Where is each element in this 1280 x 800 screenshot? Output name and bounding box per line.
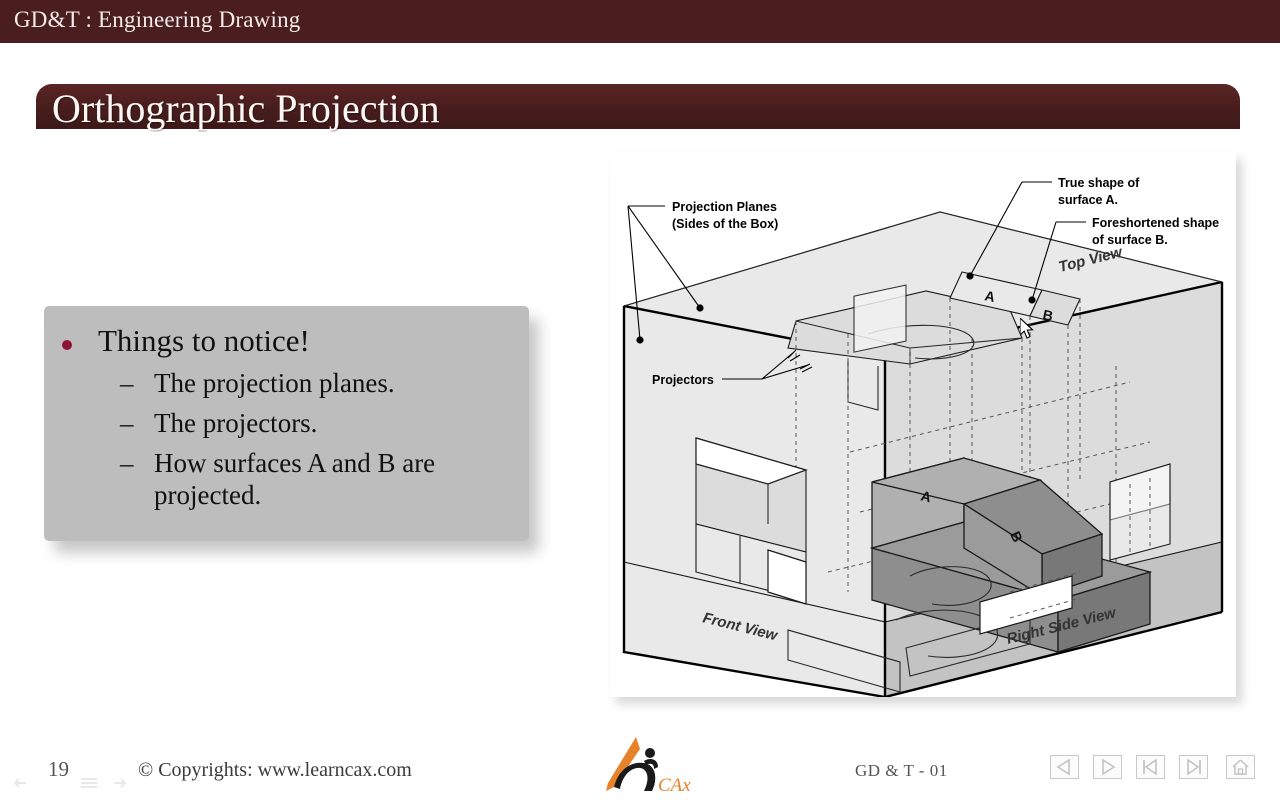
sub-bullet-list: – The projection planes. – The projector… <box>120 368 520 519</box>
figure-projection-planes-label-line1: Projection Planes <box>672 200 777 214</box>
orthographic-projection-figure: .pl { fill:#e9e9e9; stroke:#1a1a1a; stro… <box>610 152 1236 697</box>
previous-button[interactable] <box>1050 755 1079 779</box>
bullet-item-sub: – The projectors. <box>120 408 520 440</box>
content-callout-box: Things to notice! – The projection plane… <box>44 306 529 541</box>
deck-code-label: GD & T - 01 <box>855 761 948 781</box>
figure-true-shape-label-line2: surface A. <box>1058 193 1118 207</box>
figure-projectors-label: Projectors <box>652 373 714 387</box>
menu-icon[interactable] <box>78 775 100 791</box>
dash-icon: – <box>120 408 154 440</box>
copyright-text: © Copyrights: www.learncax.com <box>138 759 412 782</box>
next-button[interactable] <box>1093 755 1122 779</box>
dash-icon: – <box>120 448 154 480</box>
bullet-list: Things to notice! – The projection plane… <box>44 306 529 541</box>
slide-title-text: Orthographic Projection <box>52 85 440 132</box>
bullet-dot-icon <box>62 340 72 350</box>
figure-true-shape-label-line1: True shape of <box>1058 176 1140 190</box>
bullet-sub-label: How surfaces A and B are projected. <box>154 448 520 512</box>
slide-canvas: GD&T : Engineering Drawing Orthographic … <box>0 0 1280 800</box>
figure-projection-planes-label-line2: (Sides of the Box) <box>672 217 778 231</box>
bullet-sub-label: The projectors. <box>154 408 317 440</box>
last-button[interactable] <box>1179 755 1208 779</box>
bullet-sub-label: The projection planes. <box>154 368 395 400</box>
projection-box-illustration: .pl { fill:#e9e9e9; stroke:#1a1a1a; stro… <box>610 152 1236 697</box>
bullet-item-sub: – The projection planes. <box>120 368 520 400</box>
logo-text: CAx <box>658 775 691 796</box>
dash-icon: – <box>120 368 154 400</box>
app-header-title: GD&T : Engineering Drawing <box>14 7 300 33</box>
home-button[interactable] <box>1226 755 1255 779</box>
back-arrow-icon[interactable] <box>10 775 30 791</box>
learncax-logo: CAx <box>600 735 696 797</box>
forward-arrow-icon[interactable] <box>110 775 130 791</box>
figure-foreshortened-label-line1: Foreshortened shape <box>1092 216 1219 230</box>
first-button[interactable] <box>1136 755 1165 779</box>
page-number: 19 <box>48 757 69 782</box>
bullet-item-sub: – How surfaces A and B are projected. <box>120 448 520 512</box>
bullet-primary-label: Things to notice! <box>98 324 310 359</box>
bullet-item-primary: Things to notice! <box>62 324 517 359</box>
figure-foreshortened-label-line2: of surface B. <box>1092 233 1168 247</box>
